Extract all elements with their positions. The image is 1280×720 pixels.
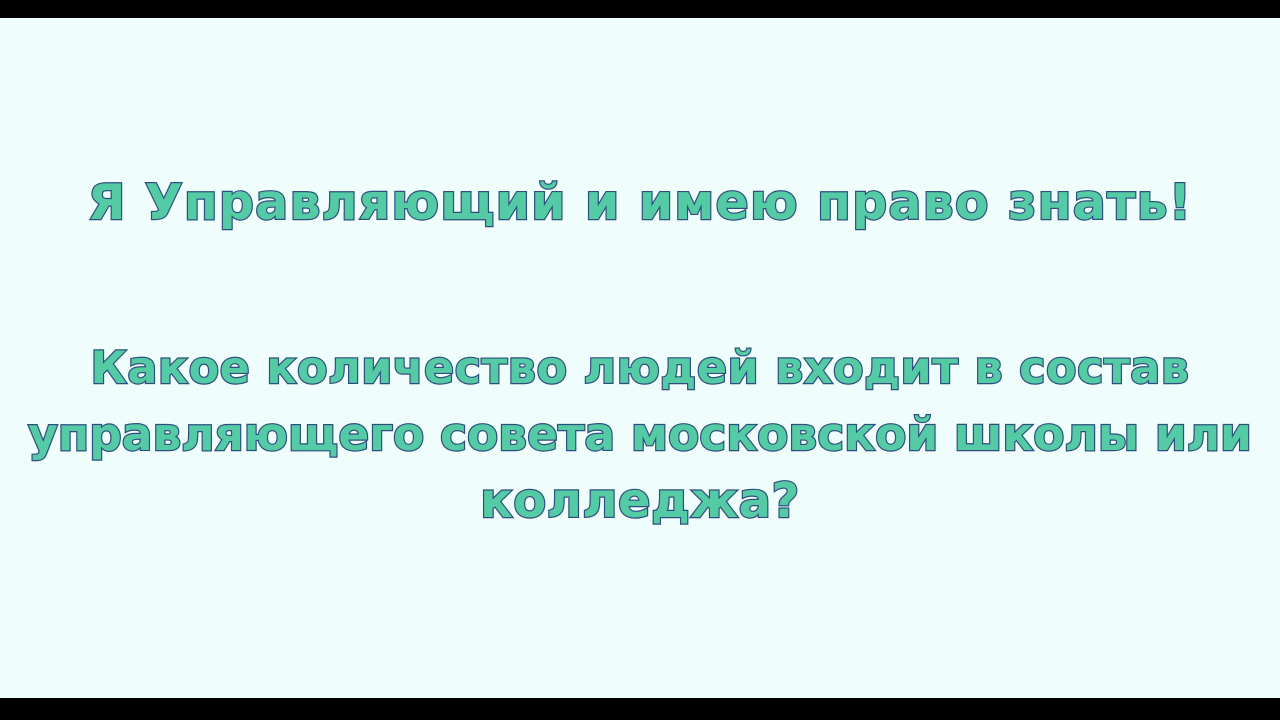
slide-heading: Я Управляющий и имею право знать! xyxy=(0,178,1280,227)
question-line-2: управляющего совета московской школы или xyxy=(0,402,1280,468)
letterbox-bar-top xyxy=(0,0,1280,18)
letterbox-bar-bottom xyxy=(0,698,1280,720)
question-line-1: Какое количество людей входит в состав xyxy=(0,336,1280,402)
slide-root: Я Управляющий и имею право знать! Какое … xyxy=(0,0,1280,720)
question-line-3: колледжа? xyxy=(0,468,1280,534)
question-block: Какое количество людей входит в состав у… xyxy=(0,336,1280,534)
slide-canvas: Я Управляющий и имею право знать! Какое … xyxy=(0,18,1280,698)
